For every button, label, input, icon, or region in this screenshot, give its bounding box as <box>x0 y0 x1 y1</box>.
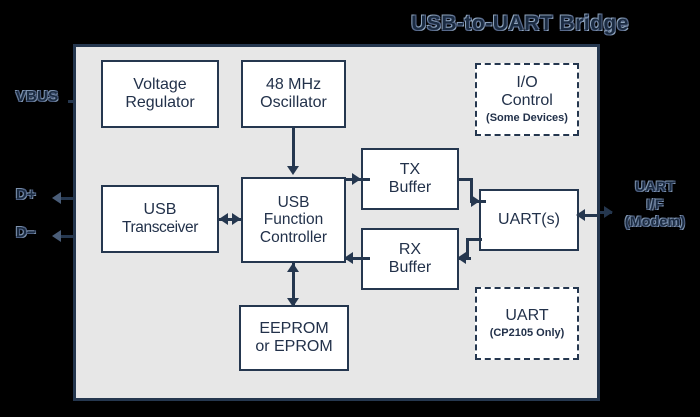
block-uart-cp2105[interactable]: UART (CP2105 Only) <box>475 287 579 360</box>
arrowhead-eeprom-to-controller <box>287 263 299 272</box>
pin-label-uart-interface-line2: I/F <box>646 196 663 212</box>
block-io-control-line1: I/O <box>516 74 537 92</box>
block-usb-function-controller[interactable]: USB Function Controller <box>241 177 346 263</box>
arrowhead-controller-to-transceiver <box>219 213 228 225</box>
block-usb-transceiver[interactable]: USB Transceiver <box>101 185 219 253</box>
block-rx-buffer-line2: Buffer <box>389 259 431 277</box>
arrowhead-d-minus-out <box>52 230 61 242</box>
block-rx-buffer-line1: RX <box>399 241 421 259</box>
arrowhead-d-plus-out <box>52 192 61 204</box>
arrowhead-uart-interface-out <box>604 206 613 218</box>
block-io-control-note: (Some Devices) <box>486 112 568 124</box>
block-voltage-regulator-line1: Voltage <box>133 76 186 94</box>
block-io-control-line2: Control <box>501 92 553 110</box>
block-eeprom[interactable]: EEPROM or EPROM <box>239 305 349 371</box>
wire-oscillator-to-controller <box>292 128 295 168</box>
pin-label-vbus: VBUS <box>6 88 68 107</box>
block-usb-function-controller-line1: USB <box>278 194 310 211</box>
arrowhead-uarts-to-rx <box>457 252 466 264</box>
block-uarts[interactable]: UART(s) <box>479 189 579 251</box>
block-uart-cp2105-note: (CP2105 Only) <box>490 327 565 339</box>
block-eeprom-line1: EEPROM <box>259 320 328 338</box>
block-rx-buffer[interactable]: RX Buffer <box>361 228 459 290</box>
block-io-control[interactable]: I/O Control (Some Devices) <box>475 63 579 136</box>
block-usb-function-controller-line2: Function <box>264 211 323 228</box>
block-uart-cp2105-line1: UART <box>505 307 548 325</box>
block-usb-transceiver-line1: USB <box>144 201 177 219</box>
block-voltage-regulator[interactable]: Voltage Regulator <box>101 60 219 128</box>
block-oscillator[interactable]: 48 MHz Oscillator <box>241 60 346 128</box>
arrowhead-controller-to-eeprom <box>287 298 299 307</box>
block-oscillator-line2: Oscillator <box>260 94 327 112</box>
pin-label-uart-interface-line1: UART <box>635 178 675 194</box>
arrowhead-oscillator-to-controller <box>287 166 299 175</box>
block-tx-buffer[interactable]: TX Buffer <box>361 148 459 210</box>
arrowhead-transceiver-to-controller <box>232 213 241 225</box>
block-tx-buffer-line2: Buffer <box>389 179 431 197</box>
arrowhead-tx-to-uarts <box>471 195 480 207</box>
page-title: USB-to-UART Bridge <box>360 12 680 36</box>
block-eeprom-line2: or EPROM <box>255 338 332 356</box>
block-voltage-regulator-line2: Regulator <box>125 94 194 112</box>
block-usb-function-controller-line3: Controller <box>260 229 327 246</box>
arrowhead-rx-buffer-to-controller <box>344 252 353 264</box>
block-tx-buffer-line1: TX <box>400 161 420 179</box>
arrowhead-external-to-uarts <box>576 209 585 221</box>
arrowhead-controller-to-tx-buffer <box>352 173 361 185</box>
block-uarts-line1: UART(s) <box>498 211 560 229</box>
usb-to-uart-bridge-chip: Voltage Regulator 48 MHz Oscillator I/O … <box>73 44 600 401</box>
block-usb-transceiver-line2: Transceiver <box>122 219 198 236</box>
pin-label-uart-interface-line3: (Modem) <box>625 213 685 229</box>
block-oscillator-line1: 48 MHz <box>266 76 321 94</box>
pin-label-d-minus: D− <box>6 224 46 243</box>
pin-label-uart-interface: UART I/F (Modem) <box>612 178 698 231</box>
pin-label-d-plus: D+ <box>6 186 46 205</box>
